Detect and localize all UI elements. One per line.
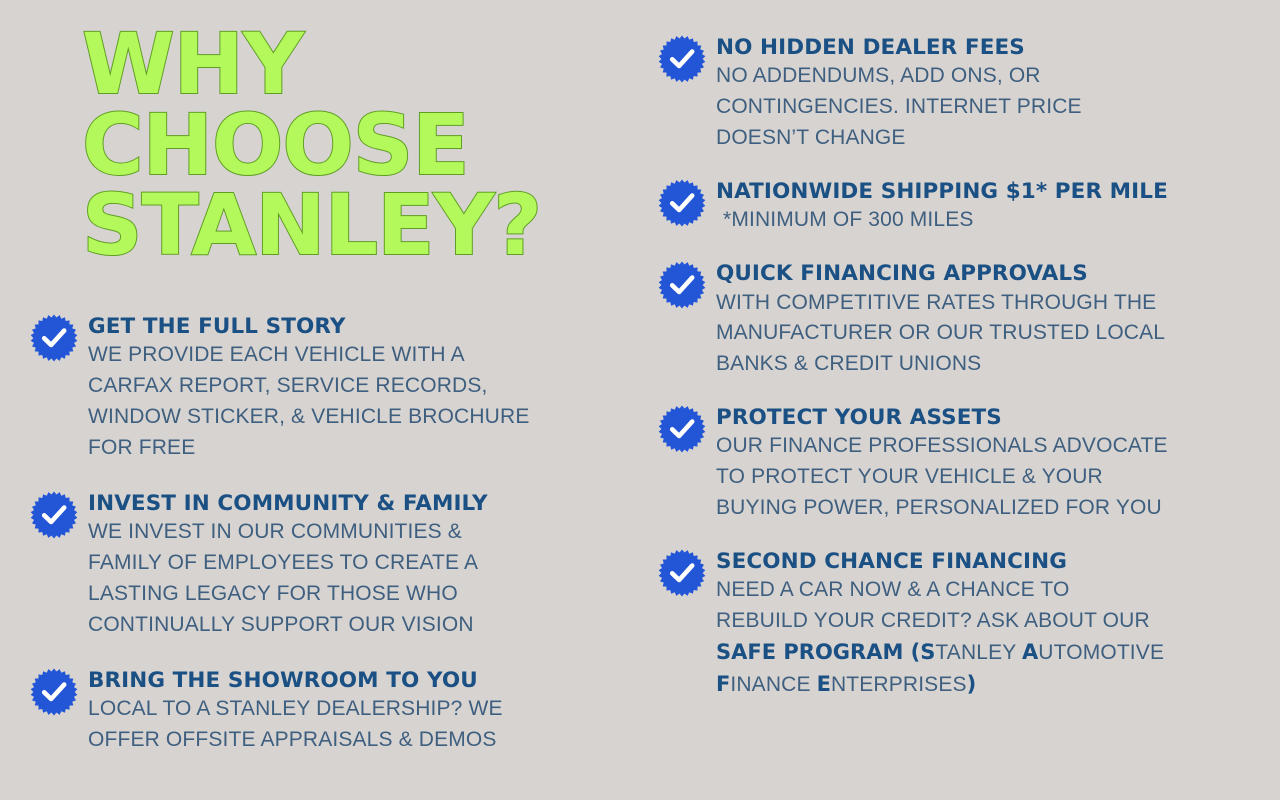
page-title: WHY CHOOSE STANLEY?: [82, 24, 602, 266]
check-badge-icon: [658, 35, 706, 83]
feature-item-desc: OUR FINANCE PROFESSIONALS ADVOCATE TO PR…: [716, 431, 1258, 524]
feature-item-title: SECOND CHANCE FINANCING: [716, 549, 1258, 574]
feature-item-title: NO HIDDEN DEALER FEES: [716, 35, 1258, 60]
check-badge-icon: [30, 668, 78, 716]
right-feature-list: NO HIDDEN DEALER FEESNO ADDENDUMS, ADD O…: [658, 34, 1258, 701]
feature-item-title: GET THE FULL STORY: [88, 314, 610, 339]
feature-item: GET THE FULL STORYWE PROVIDE EACH VEHICL…: [30, 313, 610, 464]
check-badge-icon: [30, 314, 78, 362]
feature-item-desc-rich: SAFE PROGRAM (STANLEY AUTOMOTIVE FINANCE…: [716, 637, 1258, 701]
feature-item-title: PROTECT YOUR ASSETS: [716, 405, 1258, 430]
feature-item-desc: WITH COMPETITIVE RATES THROUGH THE MANUF…: [716, 288, 1258, 381]
feature-item-body: SECOND CHANCE FINANCINGNEED A CAR NOW & …: [716, 548, 1258, 701]
feature-item-body: BRING THE SHOWROOM TO YOULOCAL TO A STAN…: [88, 667, 610, 756]
feature-item-body: NATIONWIDE SHIPPING $1* PER MILE*MINIMUM…: [716, 178, 1258, 236]
feature-item: NO HIDDEN DEALER FEESNO ADDENDUMS, ADD O…: [658, 34, 1258, 154]
check-badge-icon: [658, 261, 706, 309]
feature-item-title: INVEST IN COMMUNITY & FAMILY: [88, 491, 610, 516]
check-badge-icon: [30, 491, 78, 539]
feature-item-body: GET THE FULL STORYWE PROVIDE EACH VEHICL…: [88, 313, 610, 464]
why-choose-stanley-graphic: WHY CHOOSE STANLEY? GET THE FULL STORYWE…: [0, 0, 1280, 800]
check-badge-icon: [658, 549, 706, 597]
check-badge-icon: [658, 405, 706, 453]
feature-item-title: NATIONWIDE SHIPPING $1* PER MILE: [716, 179, 1258, 204]
feature-item: INVEST IN COMMUNITY & FAMILYWE INVEST IN…: [30, 490, 610, 641]
feature-item-desc: WE INVEST IN OUR COMMUNITIES & FAMILY OF…: [88, 517, 610, 640]
feature-item-body: PROTECT YOUR ASSETSOUR FINANCE PROFESSIO…: [716, 404, 1258, 524]
left-feature-list: GET THE FULL STORYWE PROVIDE EACH VEHICL…: [30, 313, 610, 756]
feature-item: NATIONWIDE SHIPPING $1* PER MILE*MINIMUM…: [658, 178, 1258, 236]
feature-item-body: INVEST IN COMMUNITY & FAMILYWE INVEST IN…: [88, 490, 610, 641]
feature-item: QUICK FINANCING APPROVALSWITH COMPETITIV…: [658, 260, 1258, 380]
feature-item-desc: LOCAL TO A STANLEY DEALERSHIP? WE OFFER …: [88, 694, 610, 756]
feature-item-title: QUICK FINANCING APPROVALS: [716, 261, 1258, 286]
feature-item-desc: NO ADDENDUMS, ADD ONS, OR CONTINGENCIES.…: [716, 61, 1258, 154]
feature-item: BRING THE SHOWROOM TO YOULOCAL TO A STAN…: [30, 667, 610, 756]
feature-item-title: BRING THE SHOWROOM TO YOU: [88, 668, 610, 693]
check-badge-icon: [658, 179, 706, 227]
feature-item-desc: *MINIMUM OF 300 MILES: [716, 205, 1258, 236]
feature-item-desc: NEED A CAR NOW & A CHANCE TO: [716, 575, 1258, 606]
feature-item-desc: REBUILD YOUR CREDIT? ASK ABOUT OUR: [716, 606, 1258, 637]
feature-item-desc: WE PROVIDE EACH VEHICLE WITH A CARFAX RE…: [88, 340, 610, 463]
feature-item: PROTECT YOUR ASSETSOUR FINANCE PROFESSIO…: [658, 404, 1258, 524]
feature-item-body: NO HIDDEN DEALER FEESNO ADDENDUMS, ADD O…: [716, 34, 1258, 154]
feature-item: SECOND CHANCE FINANCINGNEED A CAR NOW & …: [658, 548, 1258, 701]
feature-item-body: QUICK FINANCING APPROVALSWITH COMPETITIV…: [716, 260, 1258, 380]
